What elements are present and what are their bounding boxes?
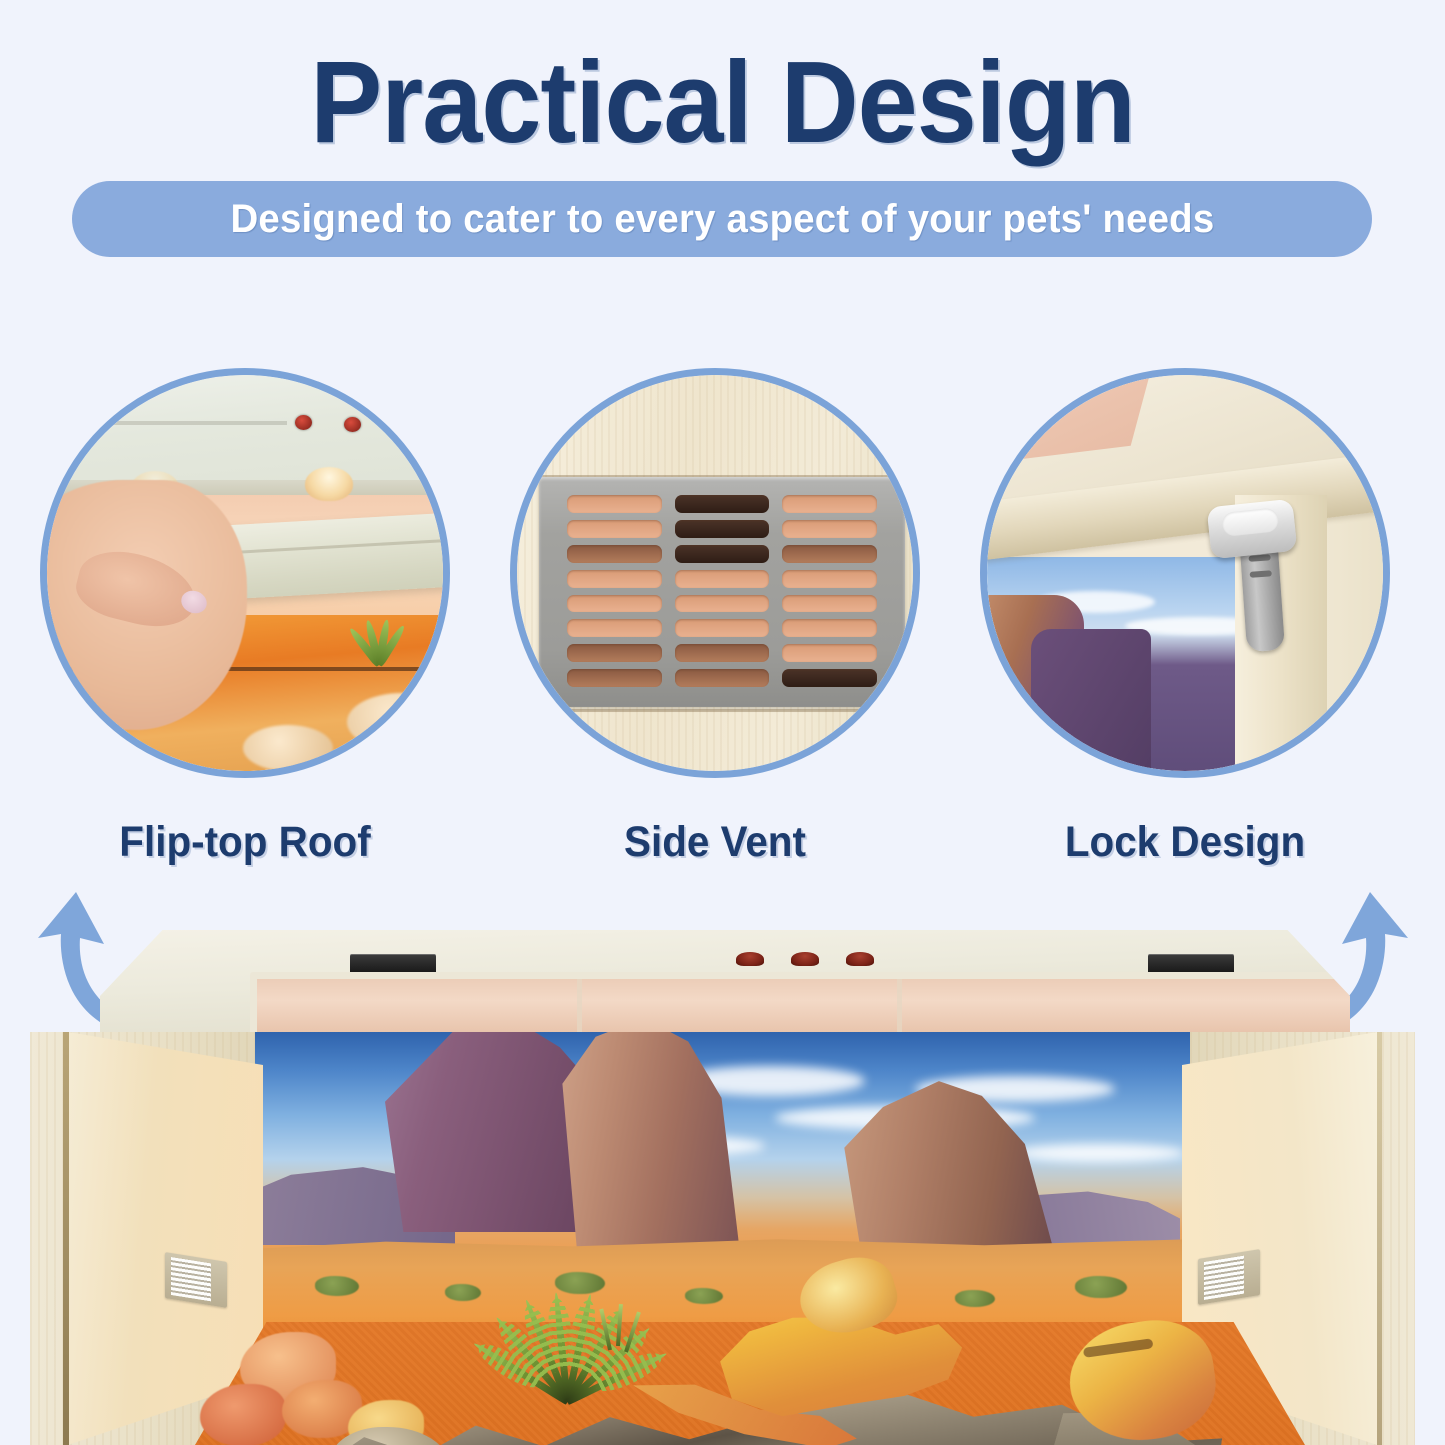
indicator-led-1 <box>295 415 312 430</box>
feature-photo-side-vent <box>517 375 913 771</box>
vent-slot-grid <box>567 495 877 687</box>
feature-circle-lock-design <box>980 368 1390 778</box>
roof-screen-opening <box>250 972 1395 1040</box>
roof-lamp-2 <box>791 952 819 966</box>
roof-hinge-left <box>350 954 436 974</box>
vent-louvers-left <box>171 1257 211 1301</box>
panel-cutout <box>987 375 1156 464</box>
terrarium-body <box>30 1032 1415 1445</box>
subtitle-text: Designed to cater to every aspect of you… <box>230 197 1214 242</box>
feature-circle-flip-top-roof <box>40 368 450 778</box>
side-vent-right <box>1198 1249 1260 1305</box>
mesa-rock-2 <box>1031 629 1151 771</box>
lock-icon <box>1207 499 1298 560</box>
left-corner-edge <box>63 1032 69 1445</box>
vent-louvers-right <box>1204 1256 1244 1300</box>
vent-grille <box>539 477 905 707</box>
feature-label-side-vent: Side Vent <box>522 818 907 867</box>
panel-seam-bottom <box>517 709 913 712</box>
desert-mural-backdrop <box>255 1032 1190 1350</box>
right-corner-edge <box>1377 1032 1382 1445</box>
product-photo <box>0 920 1445 1445</box>
feature-photo-flip-top-roof <box>47 375 443 771</box>
flower-decor-2 <box>200 1384 286 1445</box>
roof-panel-top <box>47 375 443 490</box>
feature-label-lock-design: Lock Design <box>992 818 1377 867</box>
indicator-led-2 <box>344 417 361 432</box>
feature-photo-lock-design <box>987 375 1383 771</box>
desert-mural-inside <box>987 557 1243 771</box>
plant-decor <box>345 605 415 665</box>
fern-plant <box>460 1212 675 1402</box>
side-vent-left <box>165 1252 227 1308</box>
subtitle-banner: Designed to cater to every aspect of you… <box>72 181 1372 257</box>
feature-circle-side-vent <box>510 368 920 778</box>
roof-lamp-1 <box>736 952 764 966</box>
page-title: Practical Design <box>51 44 1395 160</box>
infographic-page: Practical Design Designed to cater to ev… <box>0 0 1445 1445</box>
feature-label-flip-top-roof: Flip-top Roof <box>52 818 437 867</box>
sand-mound-2 <box>243 725 333 771</box>
roof-lamp-3 <box>846 952 874 966</box>
heat-bulb-1 <box>305 467 353 501</box>
roof-hinge-right <box>1148 954 1234 974</box>
